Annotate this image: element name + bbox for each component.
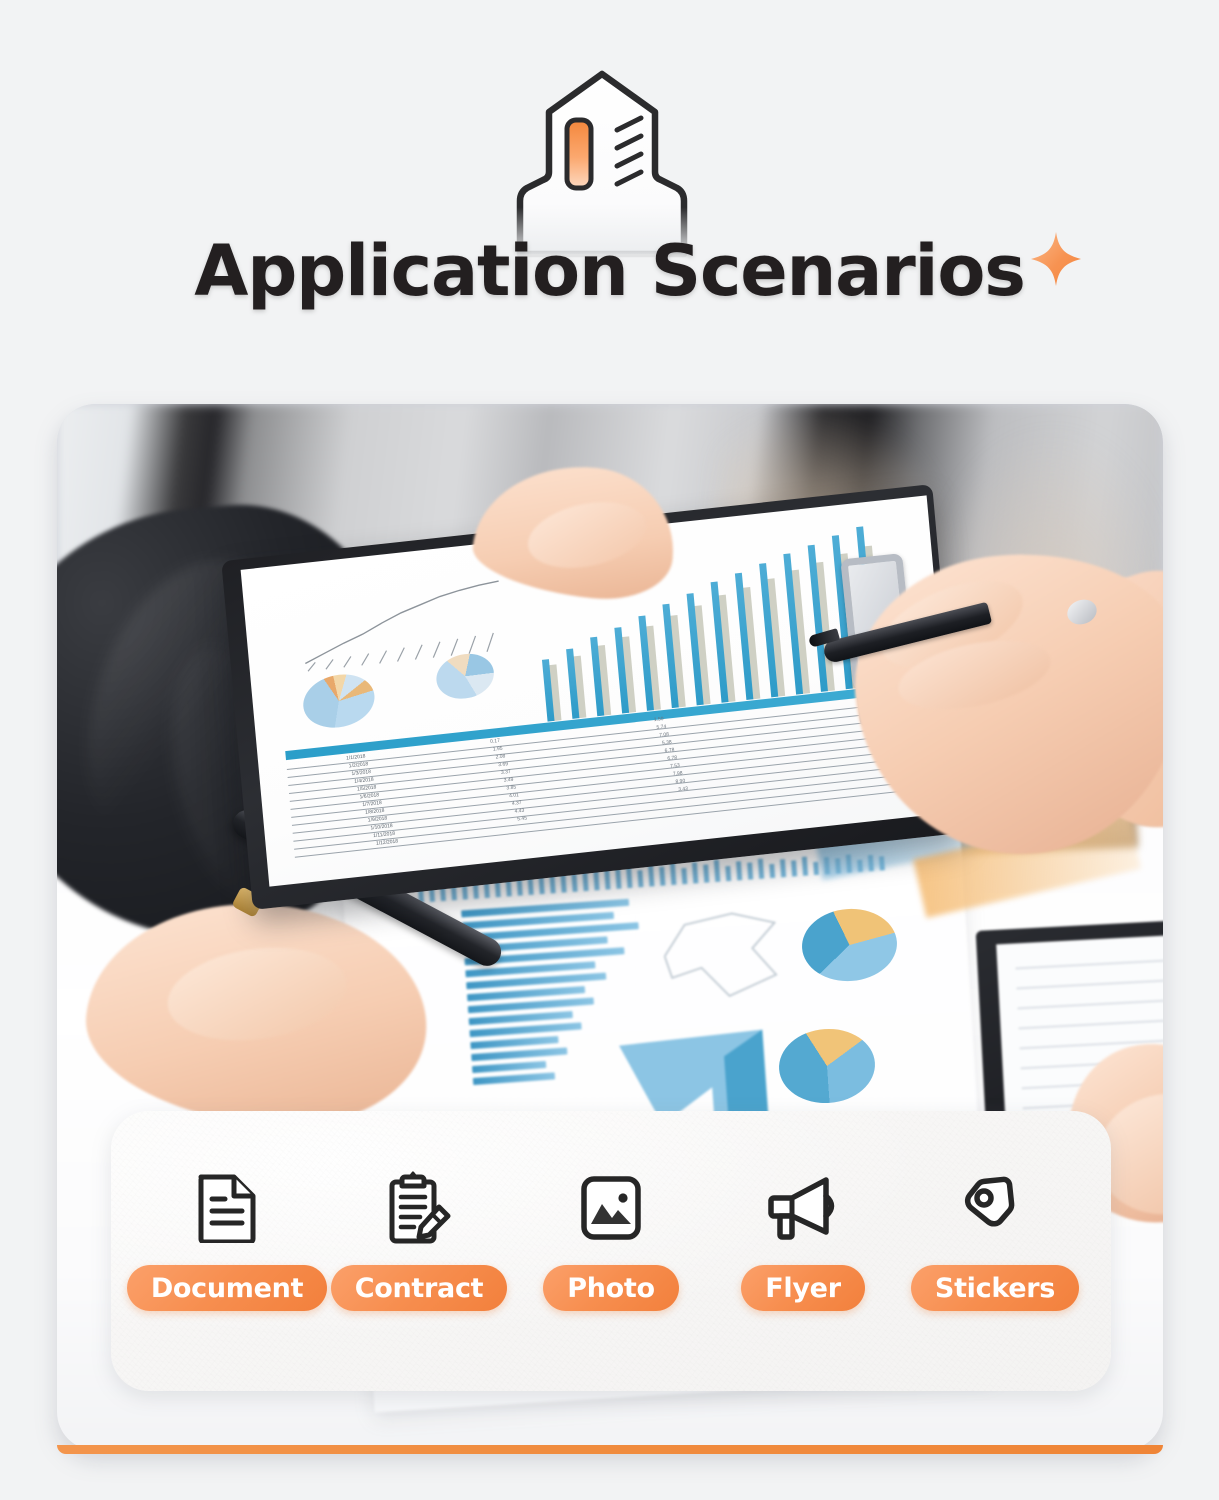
megaphone-icon (766, 1167, 840, 1249)
sparkle-icon (1025, 228, 1087, 290)
category-item-flyer[interactable]: Flyer (707, 1167, 899, 1311)
category-card: Document (111, 1111, 1111, 1391)
clipboard-pen-icon (384, 1167, 454, 1249)
image-photo-icon (579, 1167, 643, 1249)
page-root: Application Scenarios (0, 0, 1219, 1500)
photo-doc-pie-chart-1 (299, 668, 380, 734)
photo-bottom-accent-rule (57, 1445, 1163, 1454)
category-pill-flyer[interactable]: Flyer (741, 1265, 864, 1311)
category-list: Document (111, 1111, 1111, 1391)
category-pill-photo[interactable]: Photo (543, 1265, 679, 1311)
category-item-photo[interactable]: Photo (515, 1167, 707, 1311)
category-pill-stickers[interactable]: Stickers (911, 1265, 1079, 1311)
category-item-stickers[interactable]: Stickers (899, 1167, 1091, 1311)
category-item-document[interactable]: Document (131, 1167, 323, 1311)
photo-report-scatter-chart (653, 899, 800, 1018)
document-file-icon (195, 1167, 259, 1249)
category-item-contract[interactable]: Contract (323, 1167, 515, 1311)
price-tag-icon (960, 1167, 1030, 1249)
category-pill-contract[interactable]: Contract (331, 1265, 508, 1311)
header: Application Scenarios (0, 0, 1219, 390)
category-pill-document[interactable]: Document (127, 1265, 327, 1311)
